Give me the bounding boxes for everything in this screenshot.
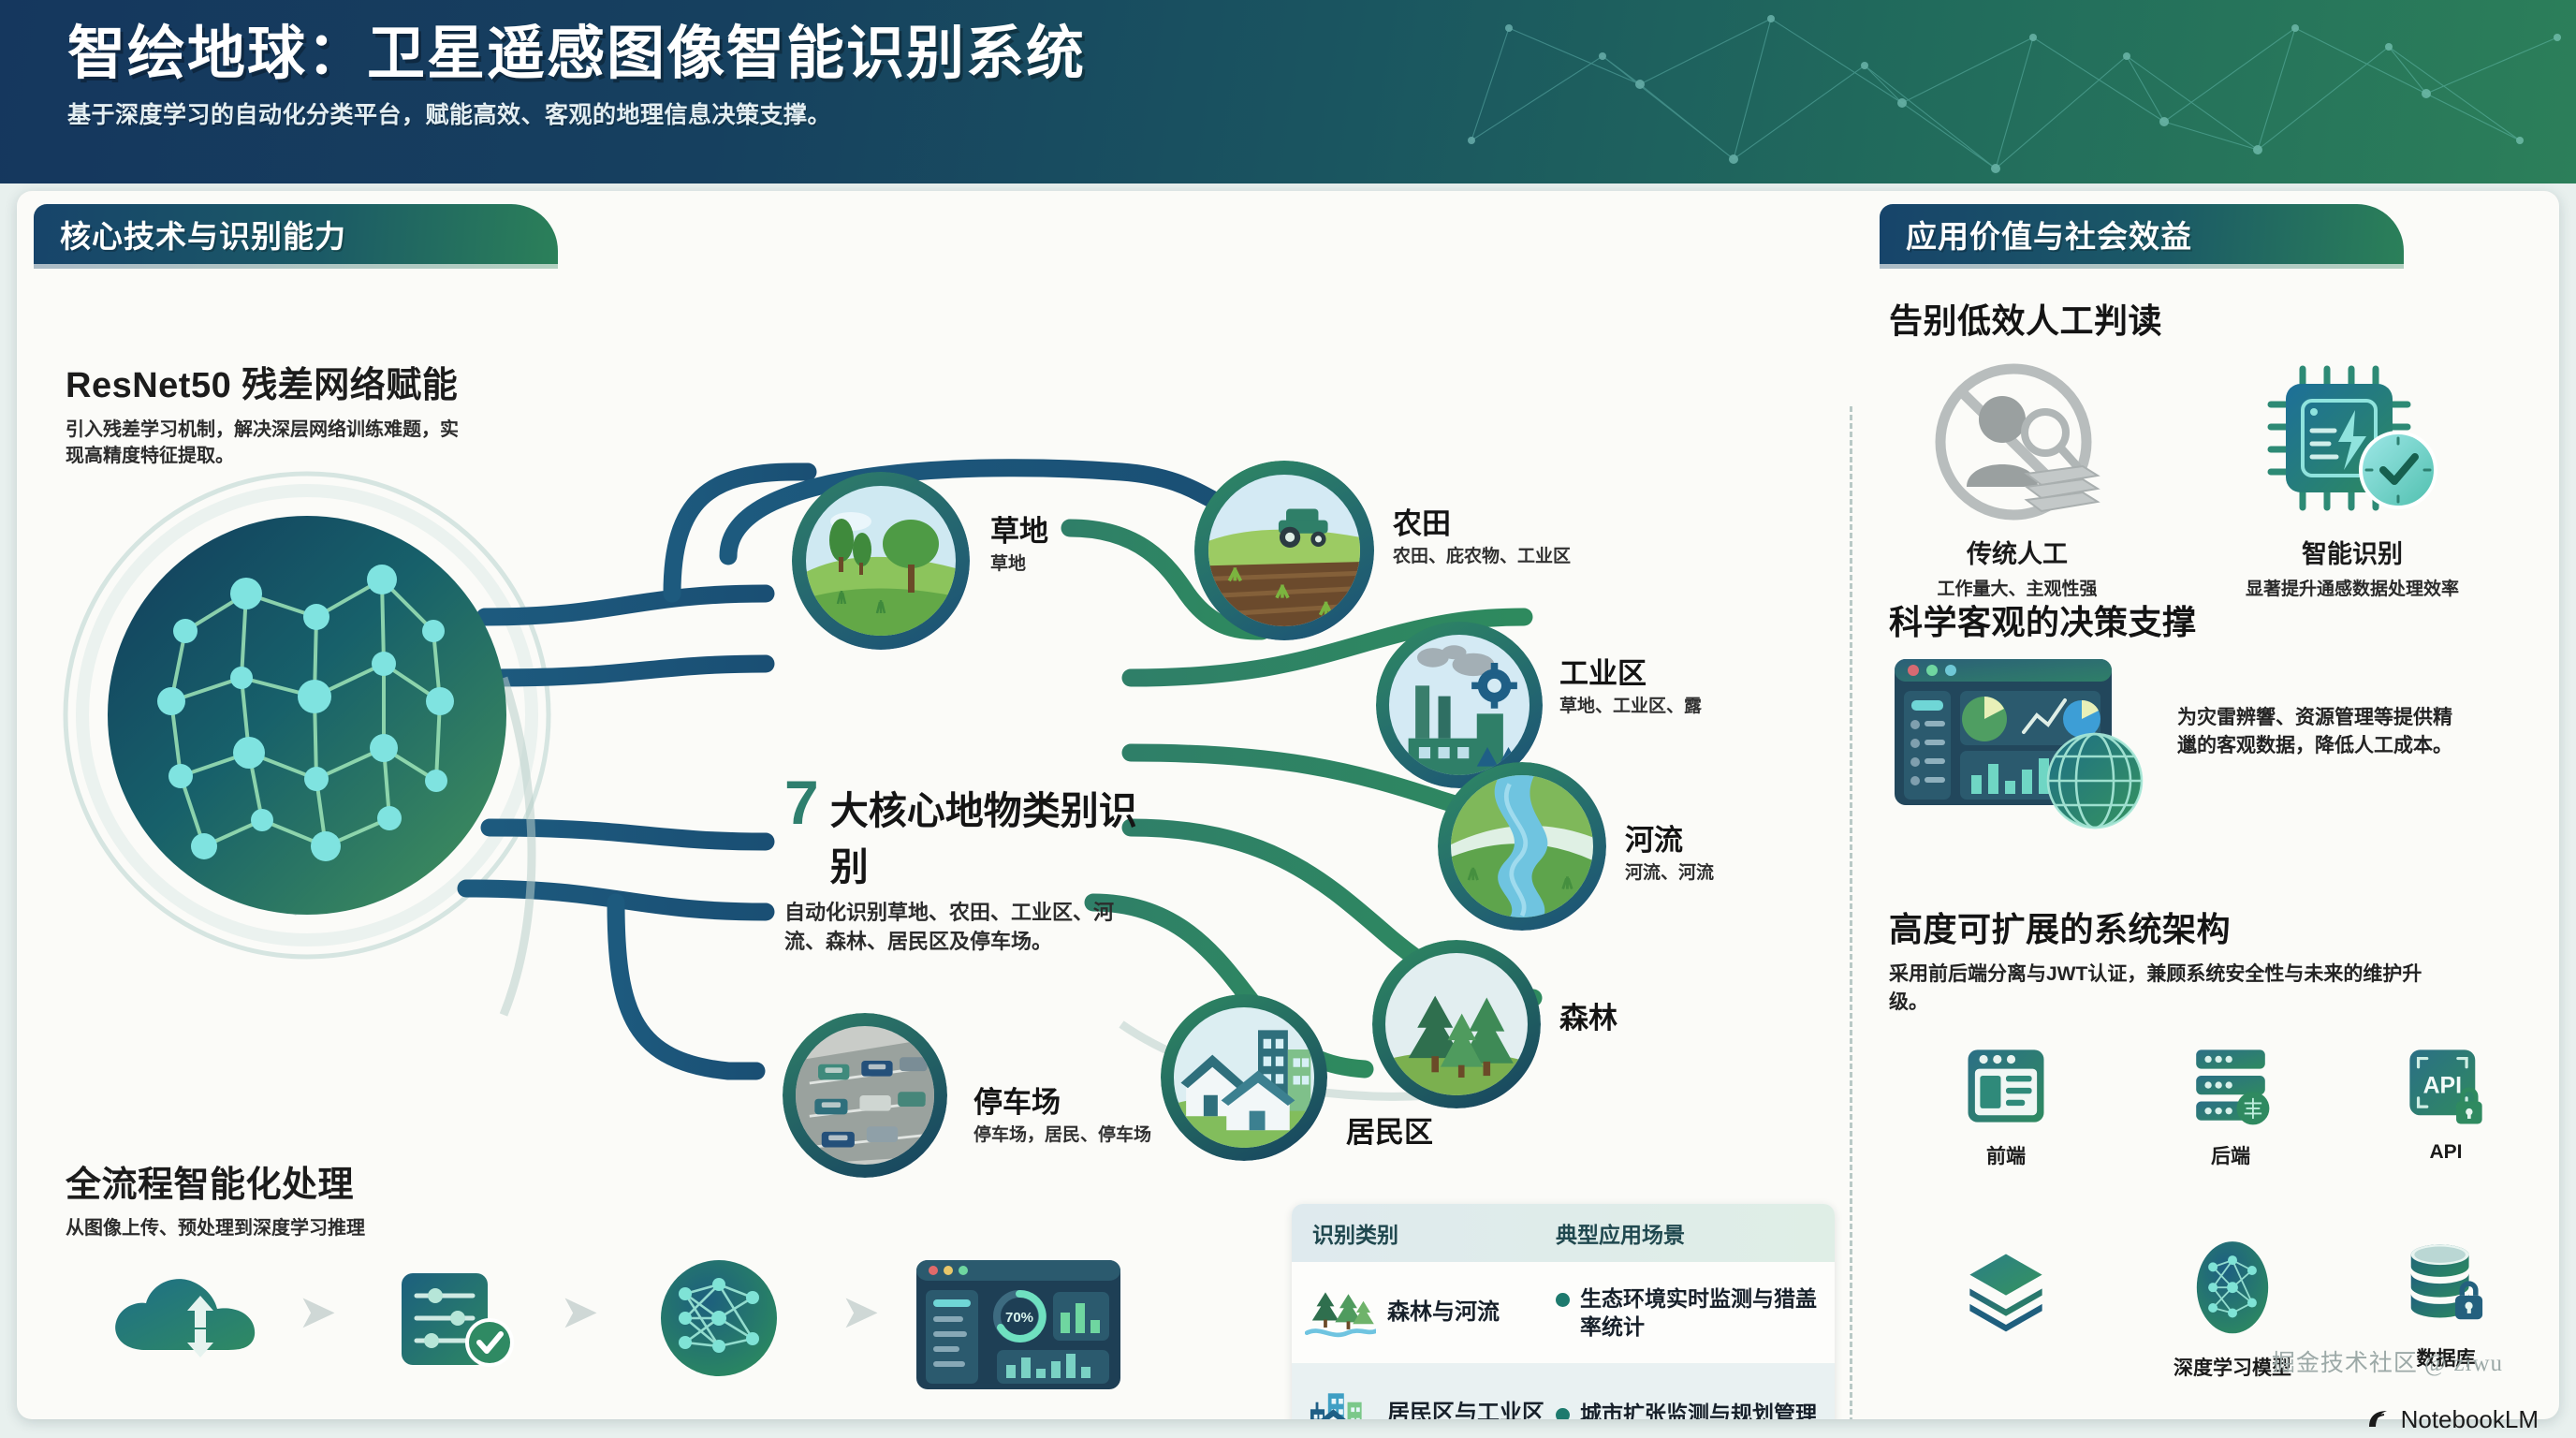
- arch-api-label: API: [2376, 1141, 2516, 1164]
- farmland-icon: [1208, 475, 1360, 626]
- arch-layers[interactable]: [1936, 1249, 2076, 1347]
- page-title: 智绘地球：卫星遥感图像智能识别系统: [67, 21, 2576, 87]
- benefit-section-2: 科学客观的决策支撑: [1889, 595, 2197, 644]
- benefit-section-3: 高度可扩展的系统架构 采用前后端分离与JWT认证，兼顾系统安全性与未来的维护升级…: [1889, 902, 2451, 1018]
- node-river-label: 河流 河流、河流: [1625, 816, 1714, 886]
- database-lock-icon: [2399, 1238, 2493, 1331]
- legend-table: 识别类别 典型应用场景 森林与河流 生态环境实时监测与猎盖率统计: [1292, 1204, 1835, 1419]
- ai-chip-icon: [2254, 356, 2451, 534]
- category-count: 7: [784, 767, 819, 838]
- workflow-title: 全流程智能化处理: [66, 1155, 552, 1207]
- svg-text:API: API: [2423, 1073, 2462, 1098]
- right-panel-ribbon-label: 应用价值与社会效益: [1906, 212, 2192, 257]
- forest-river-icon: [1305, 1282, 1376, 1343]
- manual-label: 传统人工: [1900, 534, 2134, 570]
- node-farmland[interactable]: [1194, 461, 1374, 640]
- benefit-2-title: 科学客观的决策支撑: [1889, 595, 2197, 644]
- manual-comparison-item: 传统人工 工作量大、主观性强: [1900, 356, 2134, 600]
- node-farmland-label: 农田 农田、庇农物、工业区: [1393, 500, 1571, 569]
- node-river[interactable]: [1438, 762, 1606, 931]
- api-lock-icon: API: [2403, 1043, 2489, 1129]
- benefit-2-desc: 为灾雷辨響、资源管理等提供精邋的客观数据，降低人工成本。: [2177, 704, 2467, 761]
- browser-window-icon: [1963, 1043, 2049, 1129]
- legend-scenario-0: 生态环境实时监测与猎盖率统计: [1580, 1284, 1822, 1342]
- arch-backend[interactable]: 后端: [2160, 1043, 2301, 1169]
- arch-frontend-label: 前端: [1936, 1141, 2076, 1169]
- layers-icon: [1963, 1249, 2049, 1335]
- workflow-arrow-2: ➤: [560, 1284, 599, 1339]
- watermark: 掘金技术社区 @ ziwu: [2272, 1344, 2503, 1378]
- workflow-step-inference[interactable]: 深度学习推理: [616, 1256, 822, 1419]
- arch-api[interactable]: API API: [2376, 1043, 2516, 1164]
- arch-backend-label: 后端: [2160, 1141, 2301, 1169]
- legend-row-forest-river[interactable]: 森林与河流 生态环境实时监测与猎盖率统计: [1292, 1262, 1835, 1363]
- resnet-block: ResNet50 残差网络赋能 引入残差学习机制，解决深层网络训练难题，实现高精…: [66, 356, 459, 470]
- seven-categories-block: 7 大核心地物类别识别 自动化识别草地、农田、工业区、河流、森林、居民区及停车场…: [784, 767, 1149, 956]
- parking-icon: [796, 1026, 934, 1165]
- neural-model-icon: [2186, 1238, 2279, 1341]
- main-canvas: 核心技术与识别能力 应用价值与社会效益: [17, 191, 2559, 1419]
- page-header: 智绘地球：卫星遥感图像智能识别系统 基于深度学习的自动化分类平台，赋能高效、客观…: [0, 0, 2576, 183]
- node-parking-label: 停车场 停车场，居民、停车场: [973, 1078, 1151, 1148]
- seven-categories-title: 大核心地物类别识别: [830, 779, 1149, 891]
- benefit-section-1: 告别低效人工判读: [1889, 294, 2162, 343]
- notebooklm-brand-label: NotebookLM: [2401, 1405, 2539, 1434]
- right-panel-ribbon: 应用价值与社会效益: [1880, 204, 2404, 264]
- legend-bullet-0: [1556, 1293, 1570, 1307]
- node-forest-label: 森林: [1559, 994, 1617, 1036]
- legend-row-residential-industrial[interactable]: 居民区与工业区 城市扩张监测与规划管理: [1292, 1363, 1835, 1419]
- node-industrial-label: 工业区 草地、工业区、露: [1559, 650, 1702, 719]
- legend-category-0: 森林与河流: [1387, 1298, 1500, 1327]
- river-icon: [1451, 775, 1593, 917]
- grassland-icon: [806, 486, 956, 636]
- no-manual-icon: [1924, 356, 2111, 534]
- node-residential[interactable]: [1161, 994, 1327, 1161]
- workflow-desc: 从图像上传、预处理到深度学习推理: [66, 1215, 552, 1241]
- legend-header-row: 识别类别 典型应用场景: [1292, 1204, 1835, 1262]
- benefit-1-title: 告别低效人工判读: [1889, 294, 2162, 343]
- page-subtitle: 基于深度学习的自动化分类平台，赋能高效、客观的地理信息决策支撑。: [67, 96, 2576, 130]
- benefit-3-desc: 采用前后端分离与JWT认证，兼顾系统安全性与未来的维护升级。: [1889, 961, 2451, 1018]
- settings-check-icon: [377, 1260, 536, 1382]
- resnet-desc: 引入残差学习机制，解决深层网络训练难题，实现高精度特征提取。: [66, 417, 459, 470]
- node-grassland-label: 草地 草地: [990, 507, 1048, 577]
- workflow-step-score[interactable]: 70% 置信度评分: [897, 1255, 1140, 1419]
- forest-icon: [1385, 953, 1528, 1095]
- legend-col-scenario: 典型应用场景: [1556, 1217, 1685, 1249]
- workflow-arrow-3: ➤: [841, 1284, 880, 1339]
- arch-frontend[interactable]: 前端: [1936, 1043, 2076, 1169]
- industrial-icon: [1389, 635, 1529, 775]
- seven-categories-desc: 自动化识别草地、农田、工业区、河流、森林、居民区及停车场。: [784, 898, 1149, 956]
- ai-label: 智能识别: [2198, 534, 2507, 570]
- dashboard-globe-icon: [1891, 653, 2160, 831]
- notebooklm-logo-icon: [2364, 1406, 2393, 1434]
- node-parking[interactable]: [783, 1013, 947, 1178]
- workflow-arrow-1: ➤: [298, 1284, 337, 1339]
- node-residential-label: 居民区: [1346, 1108, 1433, 1151]
- server-stack-icon: [2188, 1043, 2274, 1129]
- benefit-3-title: 高度可扩展的系统架构: [1889, 902, 2451, 951]
- resnet-title: ResNet50 残差网络赋能: [66, 356, 459, 407]
- workflow-step-preprocess[interactable]: 预处理: [363, 1260, 550, 1419]
- residential-icon: [1174, 1007, 1314, 1148]
- legend-col-category: 识别类别: [1292, 1217, 1556, 1249]
- cloud-upload-icon: [101, 1260, 288, 1382]
- ai-sub: 显著提升通感数据处理效率: [2198, 575, 2507, 600]
- node-grassland[interactable]: [792, 472, 970, 650]
- notebooklm-brand: NotebookLM: [2364, 1405, 2539, 1434]
- node-forest[interactable]: [1372, 940, 1541, 1108]
- workflow-step-upload[interactable]: 图像上传: [92, 1260, 298, 1419]
- ai-comparison-item: 智能识别 显著提升通感数据处理效率: [2198, 356, 2507, 600]
- legend-bullet-1: [1556, 1408, 1570, 1419]
- score-value: 70%: [1005, 1310, 1033, 1326]
- neural-network-icon: [635, 1256, 803, 1387]
- workflow-heading: 全流程智能化处理 从图像上传、预处理到深度学习推理: [66, 1155, 552, 1241]
- legend-scenario-1: 城市扩张监测与规划管理: [1580, 1400, 1817, 1419]
- dashboard-score-icon: 70%: [911, 1255, 1126, 1395]
- legend-category-1: 居民区与工业区: [1387, 1399, 1544, 1419]
- city-icon: [1305, 1383, 1376, 1419]
